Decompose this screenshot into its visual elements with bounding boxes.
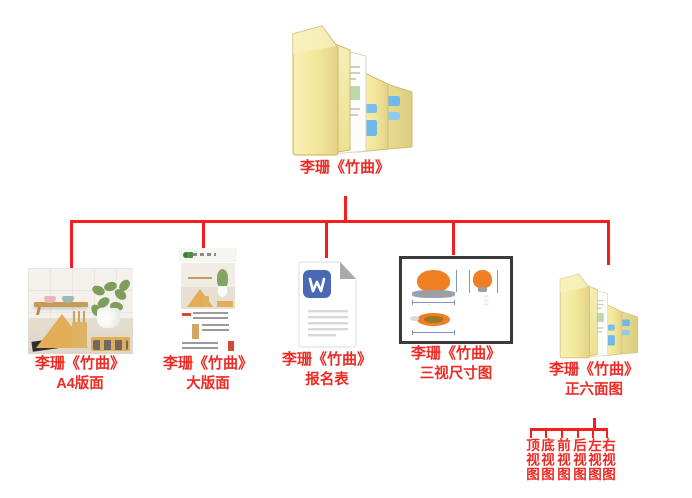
tree-diagram-canvas: 李珊《竹曲》 <box>0 0 692 498</box>
six-view-branch-line-5 <box>592 428 594 438</box>
child-sublabel-a4: A4版面 <box>18 373 142 395</box>
child-node-application-form[interactable]: 李珊《竹曲》 报名表 <box>268 258 386 391</box>
branch-line-5 <box>607 220 610 265</box>
child-label-application-form: 李珊《竹曲》 <box>268 350 386 369</box>
child-sublabel-six-view-folder: 正六面图 <box>532 379 656 401</box>
branch-line-2 <box>202 220 205 248</box>
child-label-three-view: 李珊《竹曲》 <box>392 344 520 363</box>
six-view-branch-line-6 <box>606 428 608 438</box>
child-label-large-layout: 李珊《竹曲》 <box>146 354 270 373</box>
child-sublabel-three-view: 三视尺寸图 <box>392 363 520 385</box>
six-view-branch-line-2 <box>545 428 547 438</box>
branch-line-3 <box>325 220 328 258</box>
folder-icon <box>262 8 428 158</box>
folder-icon <box>540 262 648 360</box>
six-view-label-back[interactable]: 后视图 <box>571 438 586 482</box>
photo-thumbnail-a4 <box>28 268 133 354</box>
child-node-a4[interactable]: 李珊《竹曲》 A4版面 <box>18 268 142 395</box>
three-view-drawing-thumbnail: — ◇◇ ◇◇ ◇◇ <box>399 256 513 344</box>
root-stem-line <box>344 196 347 222</box>
child-node-three-view[interactable]: — ◇◇ ◇◇ ◇◇ 李珊《竹曲》 三视尺寸图 <box>392 256 520 385</box>
branch-line-1 <box>70 220 73 268</box>
child-node-large-layout[interactable]: 李珊《竹曲》 大版面 <box>146 248 270 395</box>
six-view-branch-line-1 <box>530 428 532 438</box>
six-view-branch-line-3 <box>561 428 563 438</box>
six-view-label-bottom[interactable]: 底视图 <box>539 438 554 482</box>
child-label-a4: 李珊《竹曲》 <box>18 354 142 373</box>
six-view-label-front[interactable]: 前视图 <box>555 438 570 482</box>
child-label-six-view-folder: 李珊《竹曲》 <box>532 360 656 379</box>
six-view-bus-line <box>530 428 608 431</box>
root-node[interactable]: 李珊《竹曲》 <box>262 8 428 177</box>
poster-thumbnail-large <box>179 248 237 354</box>
child-node-six-view-folder[interactable]: 李珊《竹曲》 正六面图 <box>532 262 656 401</box>
word-document-icon <box>290 258 364 350</box>
child-sublabel-large-layout: 大版面 <box>146 373 270 395</box>
six-view-branch-line-4 <box>577 428 579 438</box>
root-label: 李珊《竹曲》 <box>262 158 428 177</box>
child-sublabel-application-form: 报名表 <box>268 369 386 391</box>
level1-bus-line <box>70 220 610 223</box>
six-view-label-right[interactable]: 右视图 <box>600 438 615 482</box>
six-view-label-top[interactable]: 顶视图 <box>524 438 539 482</box>
six-view-label-left[interactable]: 左视图 <box>586 438 601 482</box>
branch-line-4 <box>452 220 455 255</box>
